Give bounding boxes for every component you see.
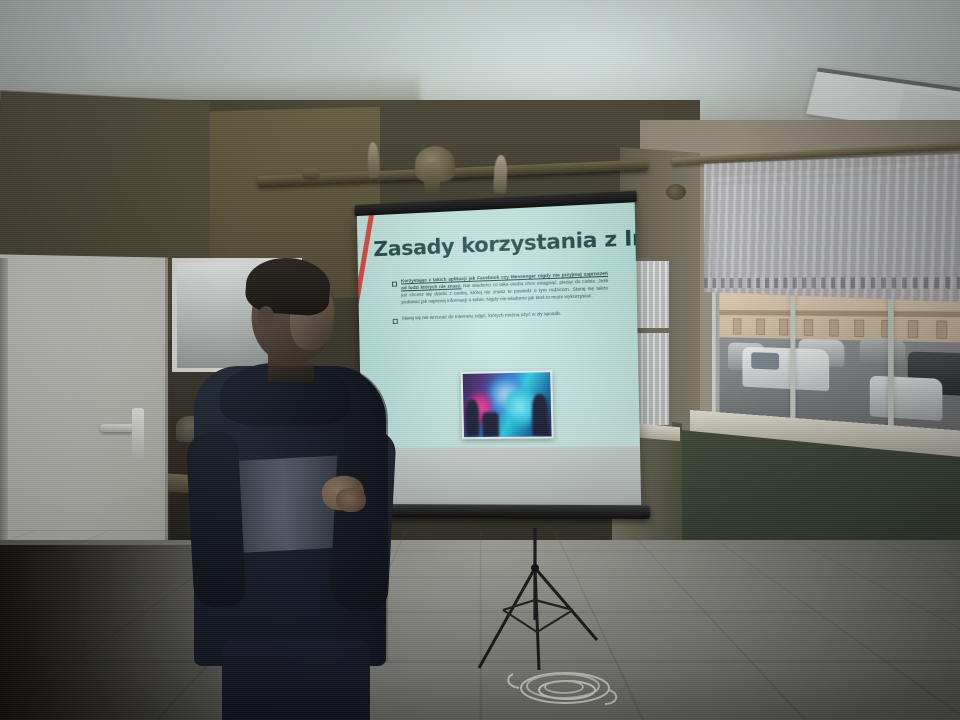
slide-bullet: Korzystając z takich aplikacji jak Faceb…: [392, 271, 609, 307]
photo-scene: Zasady korzystania z Internetu Korzystaj…: [0, 0, 960, 720]
student-presenter: [186, 262, 401, 720]
photo-cyan-light: [505, 384, 536, 429]
van-window: [751, 352, 779, 370]
building-window: [779, 319, 788, 336]
screen-blank-area: [362, 446, 642, 507]
parked-car: [870, 376, 942, 421]
shelf-bottle-icon: [493, 155, 507, 193]
shelf-flower-stem-icon: [424, 162, 440, 194]
building-roofline: [720, 310, 960, 317]
door-handle[interactable]: [100, 424, 134, 432]
curtain-hem: [704, 277, 960, 289]
photo-silhouette: [465, 399, 480, 436]
parked-car: [860, 338, 906, 367]
building-window: [908, 320, 919, 338]
door-lock-plate: [132, 408, 144, 458]
curtain-rail-end-icon: [666, 184, 686, 200]
building-window: [854, 319, 864, 337]
photo-silhouette: [531, 394, 548, 435]
slide-bullet: Staraj się nie wrzucać do Internetu zdję…: [393, 309, 609, 324]
shelf-small-object-icon: [302, 168, 320, 180]
building-window: [936, 320, 947, 338]
building-window: [756, 318, 765, 335]
slide-bullet-text: Korzystając z takich aplikacji jak Faceb…: [401, 271, 609, 307]
slide-bullet-text: Staraj się nie wrzucać do Internetu zdję…: [402, 311, 562, 324]
slide-title: Zasady korzystania z Internetu: [373, 226, 629, 262]
photo-silhouette: [483, 413, 499, 437]
presenter-ear: [258, 306, 274, 328]
slide-body: Korzystając z takich aplikacji jak Faceb…: [392, 271, 609, 333]
screen-tripod-stand: [465, 528, 615, 678]
building-window: [829, 319, 839, 336]
presenter-shadow: [196, 366, 388, 666]
building-window: [733, 318, 742, 334]
slide-embedded-photo: [461, 370, 554, 439]
presenter-hair: [244, 255, 332, 317]
building-window: [804, 319, 813, 336]
